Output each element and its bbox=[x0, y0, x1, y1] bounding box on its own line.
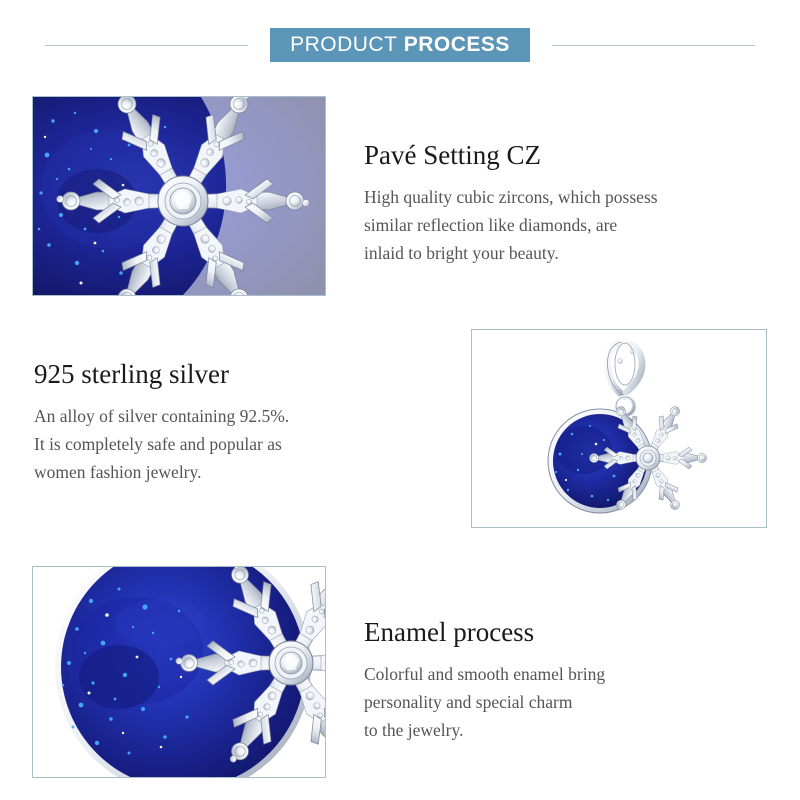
banner-word-process: PROCESS bbox=[404, 33, 510, 56]
section-title-banner: PRODUCT PROCESS bbox=[270, 28, 530, 62]
feature-heading-silver: 925 sterling silver bbox=[34, 360, 434, 390]
feature-heading-pave: Pavé Setting CZ bbox=[364, 141, 774, 171]
pave-macro-artwork bbox=[33, 97, 325, 295]
feature-body-line: women fashion jewelry. bbox=[34, 458, 434, 486]
header-rule-left bbox=[45, 45, 248, 46]
product-photo-enamel-macro bbox=[32, 566, 326, 778]
feature-block-enamel: Enamel process Colorful and smooth ename… bbox=[364, 618, 754, 745]
feature-body-line: similar reflection like diamonds, are bbox=[364, 211, 774, 239]
feature-heading-enamel: Enamel process bbox=[364, 618, 754, 648]
enamel-macro-artwork bbox=[33, 567, 325, 777]
feature-body-line: Colorful and smooth enamel bring bbox=[364, 660, 754, 688]
feature-block-silver: 925 sterling silver An alloy of silver c… bbox=[34, 360, 434, 487]
feature-body-line: personality and special charm bbox=[364, 688, 754, 716]
feature-body-line: inlaid to bright your beauty. bbox=[364, 239, 774, 267]
page-header: PRODUCT PROCESS bbox=[0, 28, 800, 62]
banner-word-product: PRODUCT bbox=[290, 33, 397, 56]
feature-body-line: It is completely safe and popular as bbox=[34, 430, 434, 458]
product-photo-pave-macro bbox=[32, 96, 326, 296]
feature-block-pave: Pavé Setting CZ High quality cubic zirco… bbox=[364, 141, 774, 268]
full-pendant-artwork bbox=[472, 330, 766, 527]
header-rule-right bbox=[552, 45, 755, 46]
feature-body-line: High quality cubic zircons, which posses… bbox=[364, 183, 774, 211]
product-photo-full-pendant bbox=[471, 329, 767, 528]
feature-body-line: to the jewelry. bbox=[364, 716, 754, 744]
feature-body-line: An alloy of silver containing 92.5%. bbox=[34, 402, 434, 430]
